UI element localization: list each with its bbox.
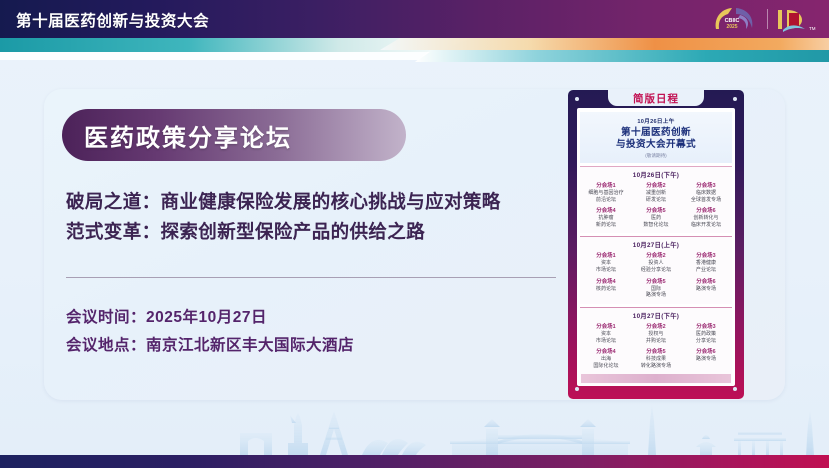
agenda-block: 10月27日(下午) 分会场1 资本 市场论坛 分会场2 授权与 并购论坛 分会… — [580, 307, 732, 384]
session-name-line1: 投资人 — [631, 260, 681, 266]
session-cell[interactable]: 分会场4 抗肿瘤 新药论坛 — [581, 207, 631, 229]
session-cell[interactable]: 分会场6 创新转化与 临床开发论坛 — [681, 207, 731, 229]
session-cell[interactable]: 分会场3 医药政策 分享论坛 — [681, 323, 731, 345]
topic-item: 范式变革：探索创新型保险产品的供给之路 — [66, 217, 501, 247]
opening-title-line1: 第十届医药创新 — [582, 127, 730, 139]
session-number: 分会场4 — [581, 279, 631, 286]
session-name-line1: 路演专场 — [681, 286, 731, 292]
session-name-line1: 科技成果 — [631, 356, 681, 362]
logo-divider — [767, 9, 768, 29]
session-name-line1: 抗肿瘤 — [581, 215, 631, 221]
session-number: 分会场4 — [581, 349, 631, 356]
session-name-line1: 资本 — [581, 260, 631, 266]
session-number: 分会场5 — [631, 349, 681, 356]
session-number: 分会场3 — [681, 324, 731, 331]
svg-text:TM: TM — [809, 26, 816, 31]
session-name-line1: 创新转化与 — [681, 215, 731, 221]
agenda-header-label: 简版日程 — [633, 91, 679, 106]
session-cell[interactable]: 分会场2 授权与 并购论坛 — [631, 323, 681, 345]
bottom-band — [0, 455, 829, 468]
ribbon-decoration — [0, 36, 829, 62]
session-number: 分会场1 — [581, 183, 631, 190]
screw-icon — [733, 97, 737, 101]
session-cell[interactable]: 分会场3 临床数据 全球首发专场 — [681, 182, 731, 204]
cbiic-2025-logo-icon: CBIIC 2025 — [710, 5, 760, 33]
logo-group: CBIIC 2025 TM — [710, 4, 817, 34]
agenda-footer-strip — [581, 374, 731, 383]
session-number: 分会场1 — [581, 253, 631, 260]
page-title: 第十届医药创新与投资大会 — [16, 9, 209, 31]
session-name-line1: 资本 — [581, 331, 631, 337]
session-number: 分会场2 — [631, 324, 681, 331]
session-name-line2: 数智化论坛 — [631, 222, 681, 228]
session-name-line2: 并购论坛 — [631, 338, 681, 344]
svg-text:2025: 2025 — [726, 24, 737, 30]
session-name-line2: 前沿论坛 — [581, 197, 631, 203]
session-name-line2: 经验分享论坛 — [631, 267, 681, 273]
session-name-line2: 临床开发论坛 — [681, 222, 731, 228]
agenda-opening-block: 10月26日上午 第十届医药创新 与投资大会开幕式 (敬请期待) — [580, 112, 732, 163]
agenda-block: 10月27日(上午) 分会场1 资本 市场论坛 分会场2 投资人 经验分享论坛 … — [580, 236, 732, 303]
agenda-body: 10月26日上午 第十届医药创新 与投资大会开幕式 (敬请期待) 10月26日(… — [577, 108, 735, 386]
session-name-line1: 核药论坛 — [581, 286, 631, 292]
agenda-block: 10月26日(下午) 分会场1 细胞与基因治疗 前沿论坛 分会场2 减重创新 研… — [580, 166, 732, 233]
session-cell[interactable]: 分会场2 投资人 经验分享论坛 — [631, 252, 681, 274]
session-name-line2: 国际化论坛 — [581, 363, 631, 369]
session-cell[interactable]: 分会场4 出海 国际化论坛 — [581, 348, 631, 370]
meeting-time: 会议时间：2025年10月27日 — [66, 304, 354, 332]
session-name-line2: 新药论坛 — [581, 222, 631, 228]
session-name-line2: 产业论坛 — [681, 267, 731, 273]
session-grid: 分会场1 资本 市场论坛 分会场2 授权与 并购论坛 分会场3 医药政策 分享论… — [580, 323, 732, 374]
session-cell[interactable]: 分会场6 路演专场 — [681, 278, 731, 300]
opening-date: 10月26日上午 — [582, 117, 730, 125]
session-name-line2: 路演专场 — [631, 292, 681, 298]
screw-icon — [733, 387, 737, 391]
session-cell[interactable]: 分会场3 香港健康 产业论坛 — [681, 252, 731, 274]
session-number: 分会场2 — [631, 253, 681, 260]
session-name-line1: 授权与 — [631, 331, 681, 337]
world-landmarks-skyline — [0, 403, 829, 455]
session-name-line2: 研发论坛 — [631, 197, 681, 203]
session-name-line1: 医药 — [631, 215, 681, 221]
session-number: 分会场6 — [681, 349, 731, 356]
session-cell[interactable]: 分会场5 国际 路演专场 — [631, 278, 681, 300]
session-number: 分会场3 — [681, 253, 731, 260]
session-name-line1: 临床数据 — [681, 190, 731, 196]
topic-list: 破局之道：商业健康保险发展的核心挑战与应对策略 范式变革：探索创新型保险产品的供… — [66, 187, 501, 247]
session-number: 分会场4 — [581, 208, 631, 215]
meeting-location: 会议地点：南京江北新区丰大国际大酒店 — [66, 332, 354, 360]
session-grid: 分会场1 资本 市场论坛 分会场2 投资人 经验分享论坛 分会场3 香港健康 产… — [580, 252, 732, 303]
session-cell[interactable]: 分会场1 细胞与基因治疗 前沿论坛 — [581, 182, 631, 204]
session-grid: 分会场1 细胞与基因治疗 前沿论坛 分会场2 减重创新 研发论坛 分会场3 临床… — [580, 182, 732, 233]
session-name-line2: 分享论坛 — [681, 338, 731, 344]
page-header: 第十届医药创新与投资大会 — [0, 0, 829, 38]
session-number: 分会场1 — [581, 324, 631, 331]
agenda-block-date: 10月27日(上午) — [580, 236, 732, 252]
forum-title: 医药政策分享论坛 — [84, 118, 292, 153]
session-name-line1: 细胞与基因治疗 — [581, 190, 631, 196]
screw-icon — [575, 97, 579, 101]
card-divider — [66, 277, 556, 278]
session-number: 分会场5 — [631, 279, 681, 286]
session-name-line1: 出海 — [581, 356, 631, 362]
10th-anniversary-logo-icon: TM — [775, 4, 817, 34]
session-cell[interactable]: 分会场1 资本 市场论坛 — [581, 252, 631, 274]
agenda-header: 简版日程 — [608, 90, 704, 107]
session-cell[interactable]: 分会场1 资本 市场论坛 — [581, 323, 631, 345]
meeting-meta: 会议时间：2025年10月27日 会议地点：南京江北新区丰大国际大酒店 — [66, 304, 354, 360]
screw-icon — [575, 387, 579, 391]
session-name-line1: 路演专场 — [681, 356, 731, 362]
session-name-line1: 国际 — [631, 286, 681, 292]
opening-title-line2: 与投资大会开幕式 — [582, 139, 730, 151]
topic-item: 破局之道：商业健康保险发展的核心挑战与应对策略 — [66, 187, 501, 217]
session-number: 分会场2 — [631, 183, 681, 190]
session-name-line2: 市场论坛 — [581, 267, 631, 273]
agenda-block-date: 10月26日(下午) — [580, 166, 732, 182]
session-cell[interactable]: 分会场4 核药论坛 — [581, 278, 631, 300]
session-name-line1: 香港健康 — [681, 260, 731, 266]
session-cell[interactable]: 分会场2 减重创新 研发论坛 — [631, 182, 681, 204]
session-name-line1: 减重创新 — [631, 190, 681, 196]
session-number: 分会场5 — [631, 208, 681, 215]
session-number: 分会场6 — [681, 279, 731, 286]
slide-root: 第十届医药创新与投资大会 CBIIC 2025 TM 医药政策 — [0, 0, 829, 468]
session-name-line2: 全球首发专场 — [681, 197, 731, 203]
session-cell[interactable]: 分会场6 路演专场 — [681, 348, 731, 370]
agenda-block-date: 10月27日(下午) — [580, 307, 732, 323]
session-cell[interactable]: 分会场5 医药 数智化论坛 — [631, 207, 681, 229]
session-name-line2: 市场论坛 — [581, 338, 631, 344]
session-cell[interactable]: 分会场5 科技成果 转化路演专场 — [631, 348, 681, 370]
agenda-card: 简版日程 10月26日上午 第十届医药创新 与投资大会开幕式 (敬请期待) 10… — [568, 90, 744, 399]
session-number: 分会场6 — [681, 208, 731, 215]
session-name-line1: 医药政策 — [681, 331, 731, 337]
forum-title-pill: 医药政策分享论坛 — [62, 109, 406, 161]
session-number: 分会场3 — [681, 183, 731, 190]
opening-note: (敬请期待) — [582, 153, 730, 159]
opening-title: 第十届医药创新 与投资大会开幕式 — [582, 127, 730, 150]
session-name-line2: 转化路演专场 — [631, 363, 681, 369]
